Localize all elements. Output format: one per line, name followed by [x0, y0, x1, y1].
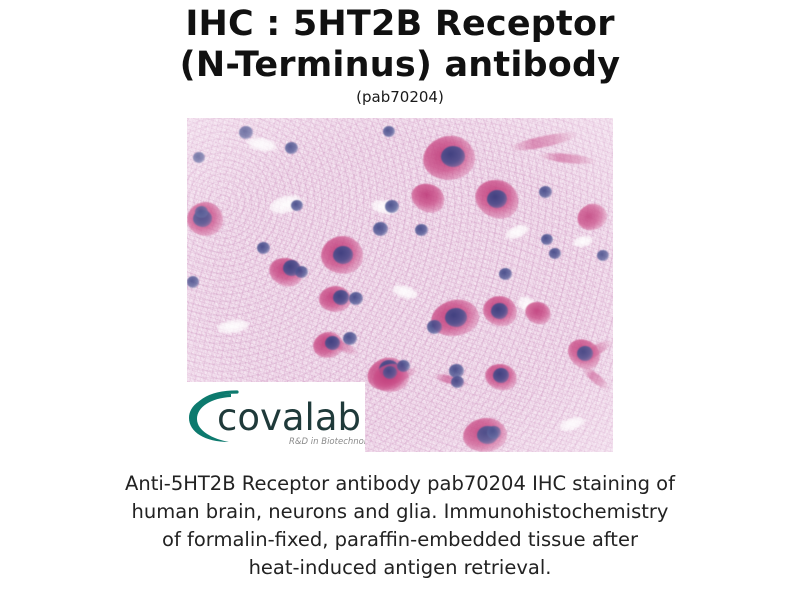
neuron-nucleus: [577, 346, 593, 361]
neuron-nucleus: [441, 146, 465, 167]
glial-nucleus: [343, 332, 357, 345]
neuron-nucleus: [493, 368, 509, 383]
neuron-nucleus: [333, 290, 349, 305]
glial-nucleus: [257, 242, 270, 254]
neuron-nucleus: [445, 308, 467, 327]
title-block: IHC : 5HT2B Receptor (N-Terminus) antibo…: [0, 4, 800, 107]
caption-line: Anti-5HT2B Receptor antibody pab70204 IH…: [80, 470, 720, 498]
glial-nucleus: [597, 250, 609, 261]
glial-nucleus: [487, 426, 501, 439]
logo-tagline: R&D in Biotechnology: [289, 437, 365, 447]
glial-nucleus: [541, 234, 553, 245]
glial-nucleus: [427, 320, 442, 334]
glial-nucleus: [195, 206, 208, 218]
caption-line: heat-induced antigen retrieval.: [80, 554, 720, 582]
neuron-nucleus: [491, 303, 508, 319]
glial-nucleus: [373, 222, 388, 236]
glial-nucleus: [295, 266, 308, 278]
glial-nucleus: [397, 360, 410, 372]
covalab-logo: covalab R&D in Biotechnology: [187, 382, 365, 452]
glial-nucleus: [349, 292, 363, 305]
covalab-logo-svg: covalab R&D in Biotechnology: [187, 382, 365, 452]
neuron-nucleus: [325, 336, 340, 350]
glial-nucleus: [415, 224, 428, 236]
glial-nucleus: [291, 200, 303, 211]
caption-line: of formalin-fixed, paraffin-embedded tis…: [80, 526, 720, 554]
glial-nucleus: [239, 126, 253, 139]
neuron-nucleus: [487, 190, 507, 208]
glial-nucleus: [383, 126, 395, 137]
logo-wordmark: covalab: [217, 396, 361, 439]
caption-block: Anti-5HT2B Receptor antibody pab70204 IH…: [80, 470, 720, 582]
catalog-number: (pab70204): [0, 88, 800, 107]
page-title-line-2: (N-Terminus) antibody: [0, 45, 800, 86]
product-image-card: IHC : 5HT2B Receptor (N-Terminus) antibo…: [0, 0, 800, 600]
glial-nucleus: [383, 366, 397, 379]
page-title-line-1: IHC : 5HT2B Receptor: [0, 4, 800, 45]
neuron-nucleus: [333, 246, 353, 264]
glial-nucleus: [539, 186, 552, 198]
glial-nucleus: [549, 248, 561, 259]
caption-line: human brain, neurons and glia. Immunohis…: [80, 498, 720, 526]
glial-nucleus: [187, 276, 199, 288]
glial-nucleus: [285, 142, 298, 154]
glial-nucleus: [451, 376, 464, 388]
glial-nucleus: [193, 152, 205, 163]
glial-nucleus: [385, 200, 399, 213]
glial-nucleus: [499, 268, 512, 280]
